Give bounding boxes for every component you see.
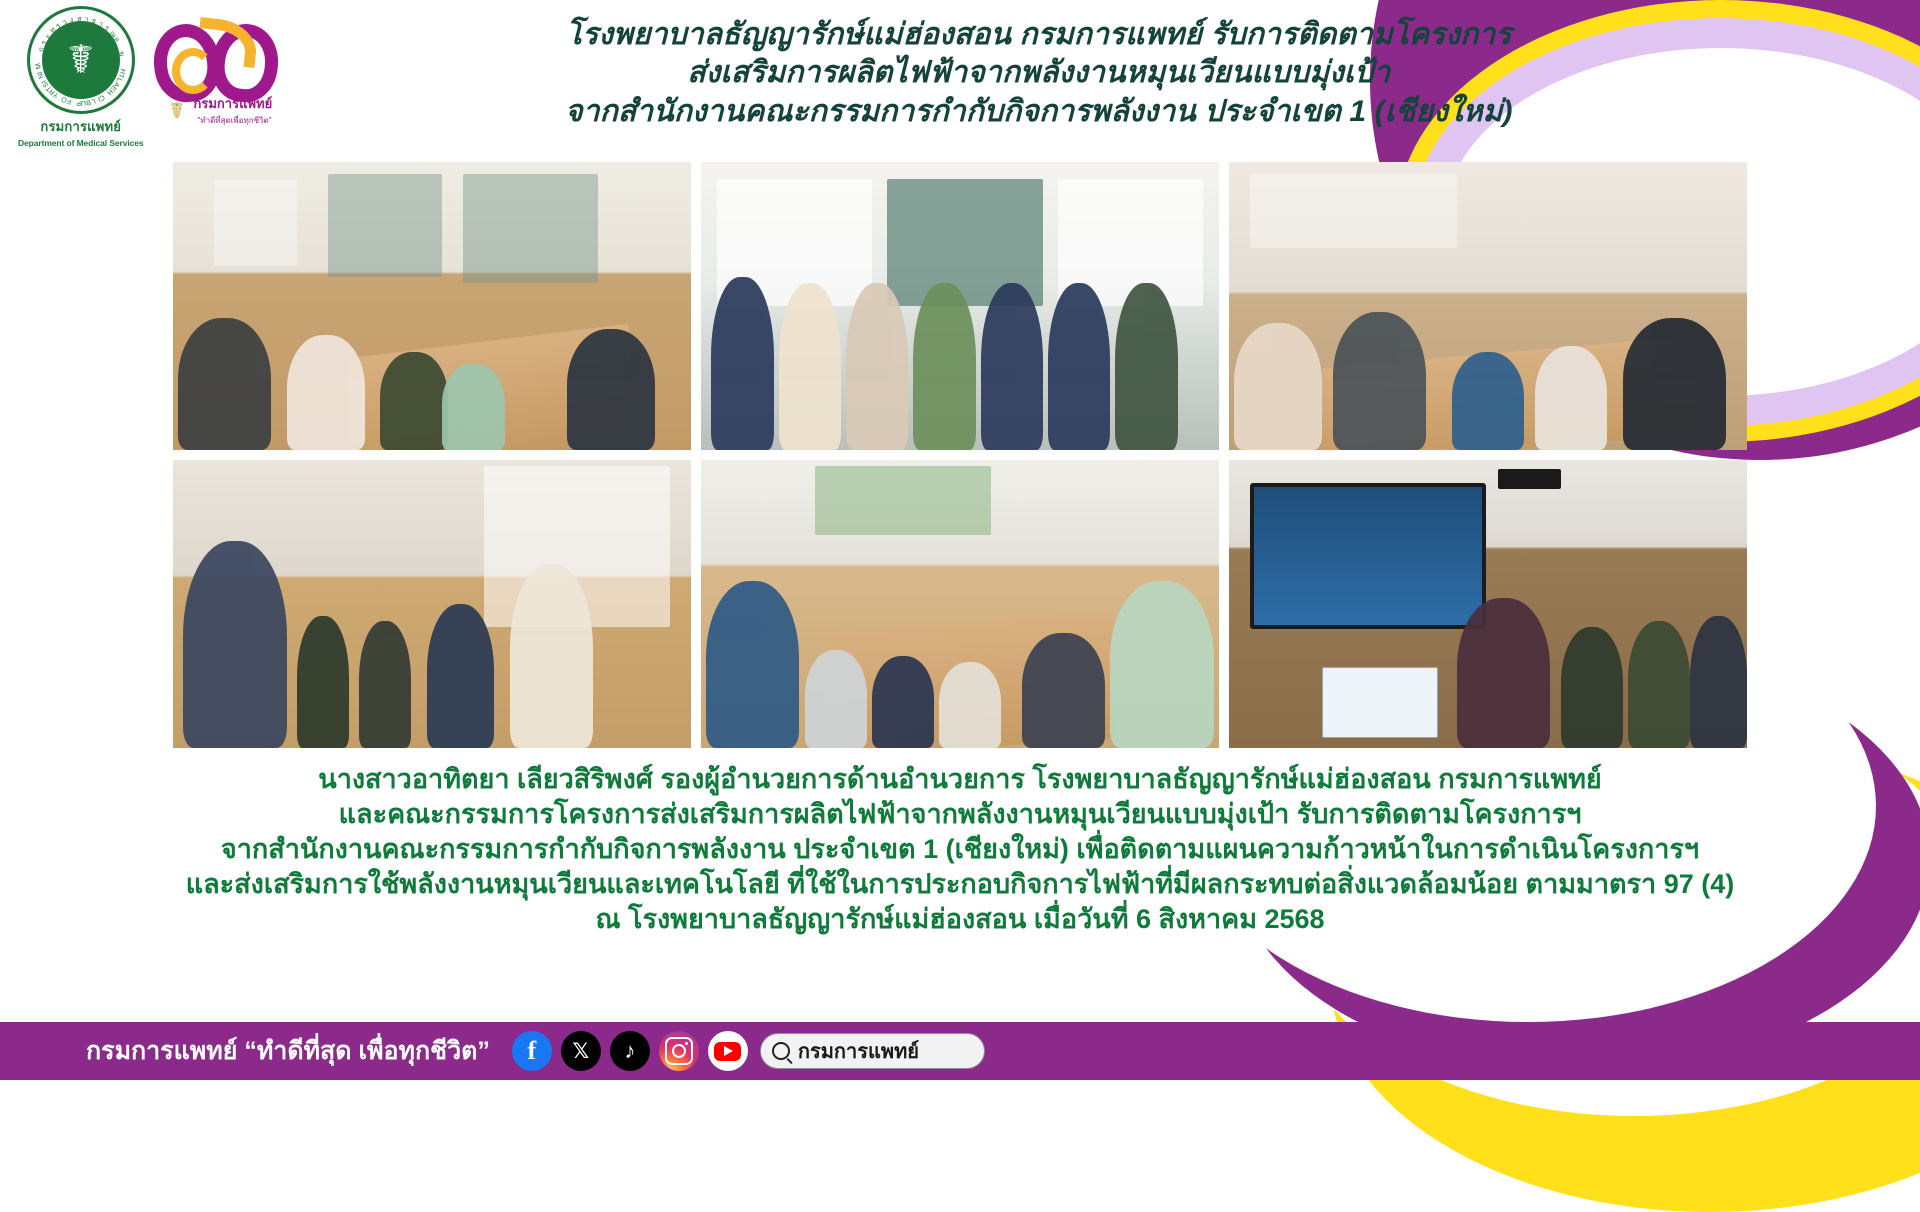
- moph-caption-en: Department of Medical Services: [18, 138, 144, 148]
- tiktok-icon[interactable]: ♪: [610, 1031, 650, 1071]
- caption-line-2: และคณะกรรมการโครงการส่งเสริมการผลิตไฟฟ้า…: [140, 797, 1780, 832]
- page-title-line-3: จากสำนักงานคณะกรรมการกำกับกิจการพลังงาน …: [308, 93, 1771, 131]
- caption-line-3: จากสำนักงานคณะกรรมการกำกับกิจการพลังงาน …: [140, 832, 1780, 867]
- dms-logo-text-th: กรมการแพทย์: [194, 93, 273, 114]
- youtube-icon[interactable]: [708, 1031, 748, 1071]
- page-title-line-1: โรงพยาบาลธัญญารักษ์แม่ฮ่องสอน กรมการแพทย…: [308, 16, 1771, 54]
- digital-clock: [1498, 469, 1560, 489]
- caption-line-5: ณ โรงพยาบาลธัญญารักษ์แม่ฮ่องสอน เมื่อวัน…: [140, 902, 1780, 937]
- photo-tile-4[interactable]: การมอบเอกสารและตรวจเยี่ยมพื้นที่ภายในอาค…: [173, 460, 691, 748]
- search-icon: [772, 1042, 790, 1060]
- dms-caduceus-icon: ☤: [170, 100, 185, 122]
- x-twitter-icon[interactable]: 𝕏: [561, 1031, 601, 1071]
- caption-line-4: และส่งเสริมการใช้พลังงานหมุนเวียนและเทคโ…: [140, 867, 1780, 902]
- photo-tile-3[interactable]: การประชุมติดตามโครงการในห้องประชุมพร้อมเ…: [1229, 162, 1747, 450]
- photo-4-scene: [173, 460, 691, 748]
- photo-grid: ผู้เข้าร่วมประชุมนั่งรอบโต๊ะไม้ยาวในห้อง…: [173, 162, 1747, 748]
- search-input[interactable]: กรมการแพทย์: [760, 1033, 985, 1069]
- photo-3-scene: [1229, 162, 1747, 450]
- dms-logo-slogan: "ทำดีที่สุดเพื่อทุกชีวิต": [198, 114, 272, 127]
- presentation-screen: [1250, 483, 1486, 629]
- photo-1-scene: [173, 162, 691, 450]
- page-header: กระทรวงสาธารณสุขMINISTRY OF PUBLIC HEALT…: [0, 0, 1920, 162]
- moph-caption-th: กรมการแพทย์: [40, 116, 121, 137]
- photo-2-scene: [701, 162, 1219, 450]
- caption-line-1: นางสาวอาทิตยา เลียวสิริพงศ์ รองผู้อำนวยก…: [140, 762, 1780, 797]
- page-title: โรงพยาบาลธัญญารักษ์แม่ฮ่องสอน กรมการแพทย…: [288, 0, 1920, 131]
- signage-board: [1322, 667, 1438, 738]
- logo-block: กระทรวงสาธารณสุขMINISTRY OF PUBLIC HEALT…: [0, 0, 288, 148]
- social-links-row: f 𝕏 ♪: [512, 1031, 748, 1071]
- page-title-line-2: ส่งเสริมการผลิตไฟฟ้าจากพลังงานหมุนเวียนแ…: [308, 54, 1771, 92]
- caption-block: นางสาวอาทิตยา เลียวสิริพงศ์ รองผู้อำนวยก…: [140, 762, 1780, 937]
- photo-tile-1[interactable]: ผู้เข้าร่วมประชุมนั่งรอบโต๊ะไม้ยาวในห้อง…: [173, 162, 691, 450]
- photo-5-scene: [701, 460, 1219, 748]
- photo-6-scene: [1229, 460, 1747, 748]
- photo-tile-5[interactable]: ผู้เข้าร่วมประชุมนั่งสองฝั่งโต๊ะไม้พร้อม…: [701, 460, 1219, 748]
- moph-ring-text: กระทรวงสาธารณสุขMINISTRY OF PUBLIC HEALT…: [30, 9, 132, 111]
- dms-83-emblem-icon: ☤ กรมการแพทย์ "ทำดีที่สุดเพื่อทุกชีวิต": [150, 20, 288, 120]
- ministry-of-public-health-logo: กระทรวงสาธารณสุขMINISTRY OF PUBLIC HEALT…: [18, 6, 144, 148]
- dms-inner-curl-icon: [172, 48, 214, 94]
- moph-seal-icon: กระทรวงสาธารณสุขMINISTRY OF PUBLIC HEALT…: [27, 6, 135, 114]
- youtube-play-glyph: [714, 1042, 741, 1061]
- instagram-icon[interactable]: [659, 1031, 699, 1071]
- footer-bar: กรมการแพทย์ “ทำดีที่สุด เพื่อทุกชีวิต” f…: [0, 1022, 1920, 1080]
- facebook-icon[interactable]: f: [512, 1031, 552, 1071]
- photo-tile-2[interactable]: คณะผู้บริหารและคณะกรรมการถ่ายภาพหมู่หน้า…: [701, 162, 1219, 450]
- search-input-value[interactable]: กรมการแพทย์: [798, 1035, 919, 1067]
- instagram-camera-glyph: [665, 1037, 693, 1065]
- dms-anniversary-logo: ☤ กรมการแพทย์ "ทำดีที่สุดเพื่อทุกชีวิต": [150, 6, 288, 120]
- photo-tile-6[interactable]: การนำเสนอข้อมูลบนจอภาพและการตรวจเยี่ยมจุ…: [1229, 460, 1747, 748]
- footer-slogan: กรมการแพทย์ “ทำดีที่สุด เพื่อทุกชีวิต”: [86, 1031, 490, 1071]
